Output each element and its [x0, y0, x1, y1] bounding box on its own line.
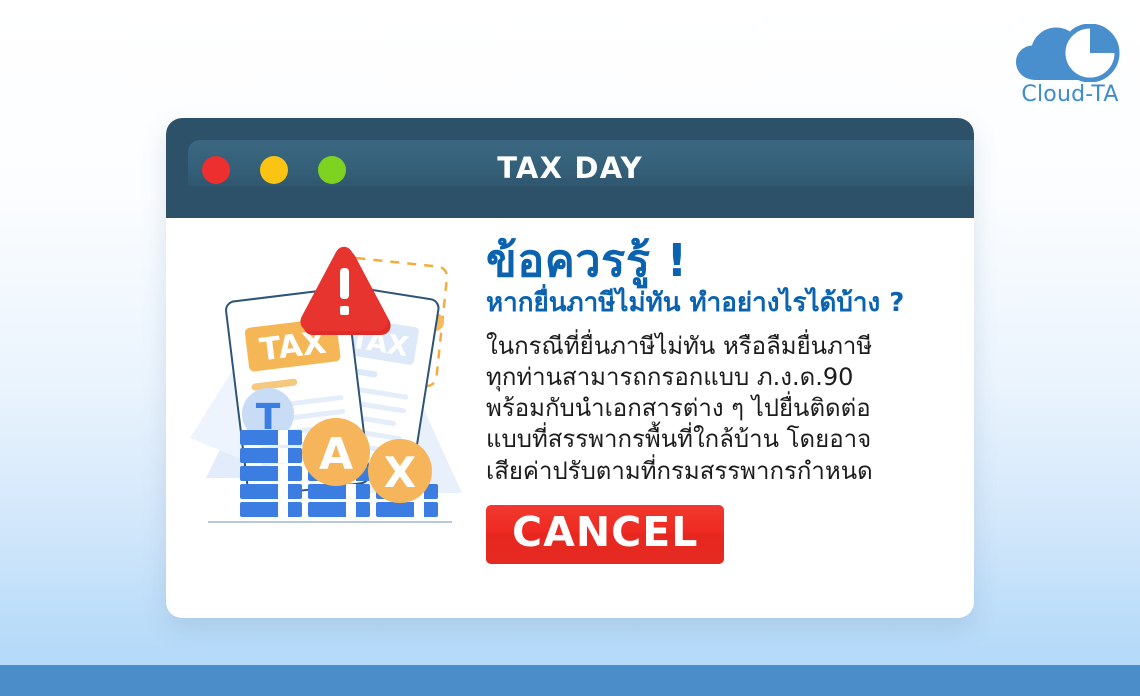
brand-logo[interactable]: Cloud-TA [1008, 24, 1132, 112]
body-line: ทุกท่านสามารถกรอกแบบ ภ.ง.ด.90 [486, 362, 946, 393]
svg-text:X: X [384, 448, 416, 497]
tax-documents-warning-illustration: TAX TAX [190, 228, 470, 598]
message-column: ข้อควรรู้ ! หากยื่นภาษีไม่ทัน ทำอย่างไรไ… [486, 238, 946, 564]
window-title: TAX DAY [166, 118, 974, 218]
body-paragraph: ในกรณีที่ยื่นภาษีไม่ทัน หรือลืมยื่นภาษีท… [486, 331, 946, 487]
cancel-button[interactable]: CANCEL [486, 505, 724, 564]
svg-text:A: A [319, 429, 353, 480]
page-subtitle: หากยื่นภาษีไม่ทัน ทำอย่างไรได้บ้าง ? [486, 289, 946, 319]
body-line: เสียค่าปรับตามที่กรมสรรพากรกำหนด [486, 456, 946, 487]
page-title: ข้อควรรู้ ! [486, 238, 946, 283]
body-line: แบบที่สรรพากรพื้นที่ใกล้บ้าน โดยอาจ [486, 424, 946, 455]
page-canvas: Cloud-TA TAX DAY [0, 0, 1140, 696]
bottom-accent-band [0, 665, 1140, 696]
body-line: ในกรณีที่ยื่นภาษีไม่ทัน หรือลืมยื่นภาษี [486, 331, 946, 362]
window-titlebar: TAX DAY [166, 118, 974, 218]
brand-logo-text: Cloud-TA [1008, 82, 1132, 107]
window-content: TAX TAX [166, 218, 974, 618]
tax-day-window: TAX DAY TAX [166, 118, 974, 618]
body-line: พร้อมกับนำเอกสารต่าง ๆ ไปยื่นติดต่อ [486, 393, 946, 424]
cloud-clock-icon [1014, 24, 1124, 82]
